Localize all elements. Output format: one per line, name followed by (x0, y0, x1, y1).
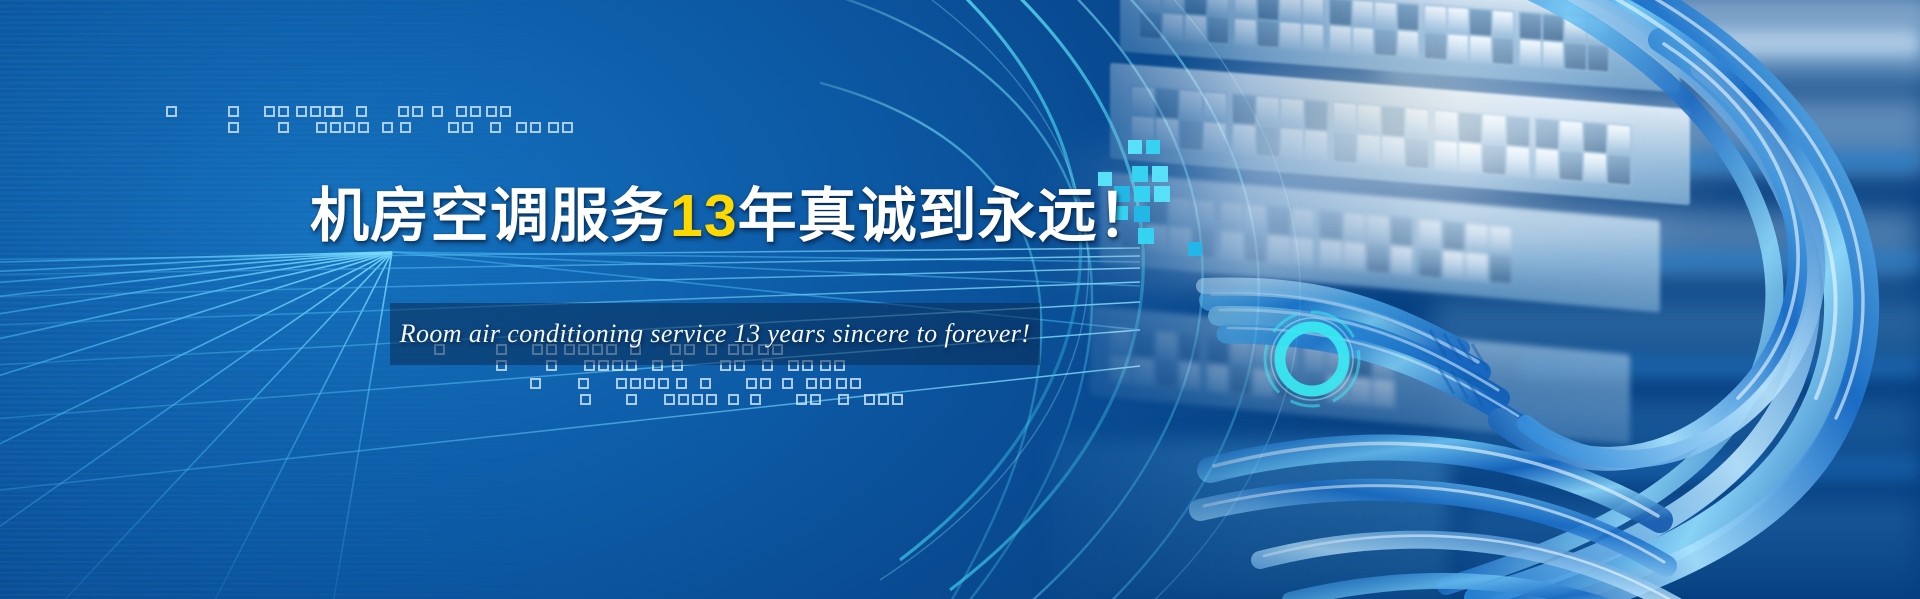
headline-number: 13 (670, 183, 738, 249)
hud-ring (1258, 305, 1366, 413)
hero-banner: 机房空调服务13年真诚到永远！ Room air conditioning se… (0, 0, 1920, 599)
subtitle: Room air conditioning service 13 years s… (390, 303, 1040, 365)
pixel-square-pattern-top (160, 100, 580, 136)
headline-prefix: 机房空调服务 (310, 183, 670, 249)
page-title: 机房空调服务13年真诚到永远！ (310, 168, 1158, 253)
headline-suffix: 年真诚到永远！ (738, 183, 1158, 249)
server-rack-network-cables-photo (960, 0, 1920, 599)
